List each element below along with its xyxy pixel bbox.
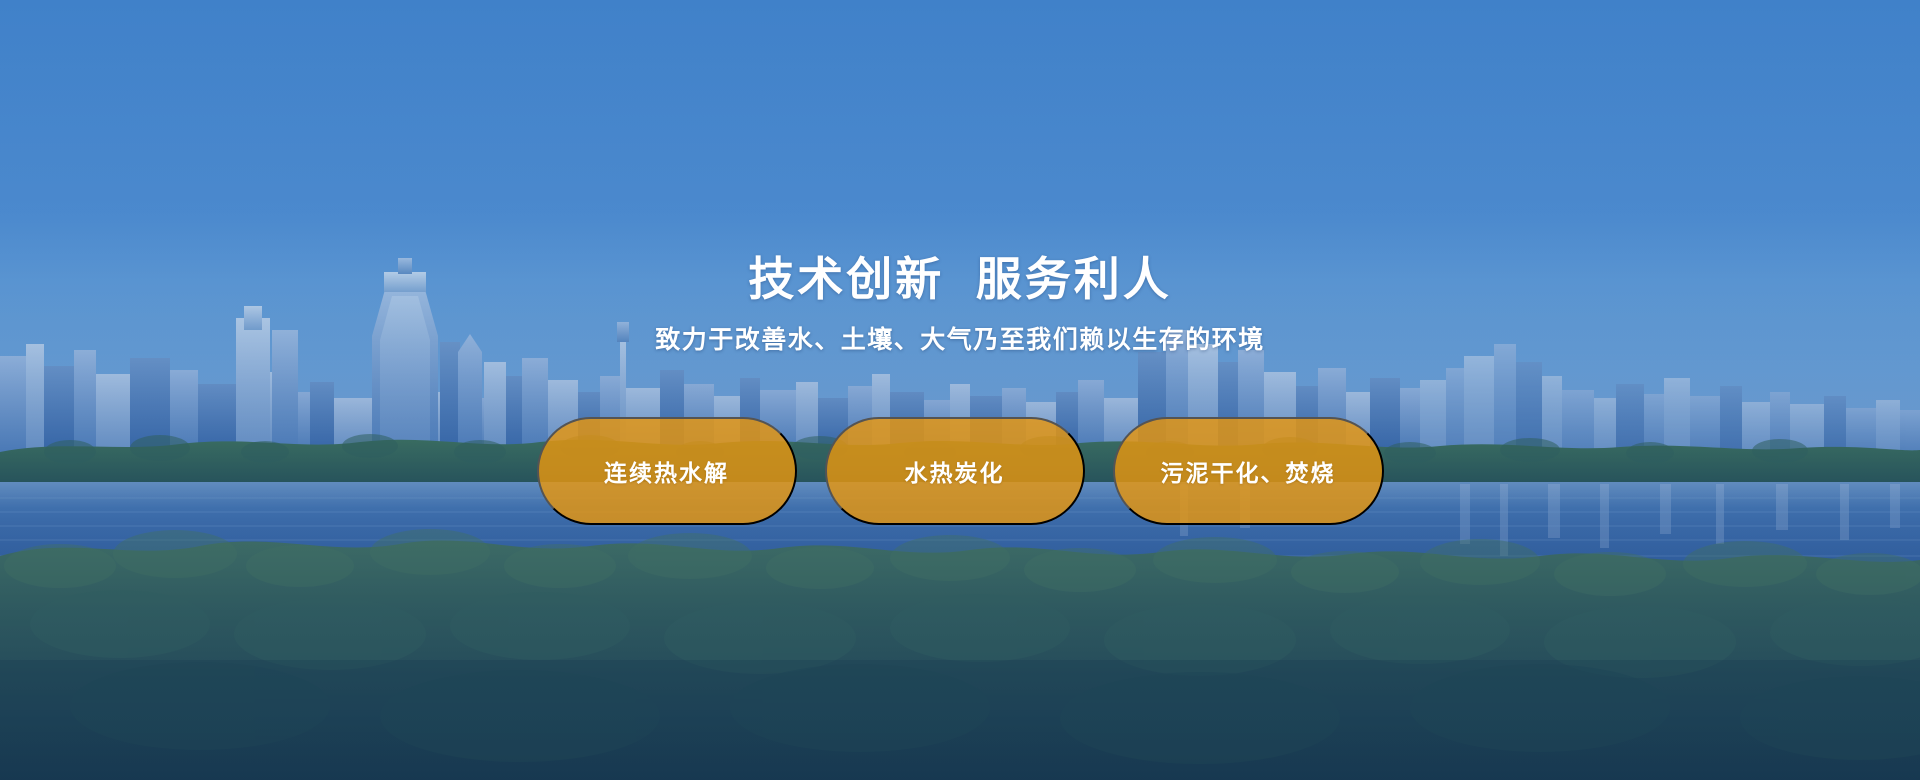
hero-button-continuous-thermal-hydrolysis[interactable]: 连续热水解	[537, 417, 797, 525]
hero-button-sludge-drying-incineration[interactable]: 污泥干化、焚烧	[1113, 417, 1384, 525]
hero-content: 技术创新 服务利人 致力于改善水、土壤、大气乃至我们赖以生存的环境 连续热水解 …	[0, 0, 1920, 780]
hero-button-row: 连续热水解 水热炭化 污泥干化、焚烧	[537, 417, 1384, 525]
hero-button-hydrothermal-carbonization[interactable]: 水热炭化	[825, 417, 1085, 525]
hero-banner: 技术创新 服务利人 致力于改善水、土壤、大气乃至我们赖以生存的环境 连续热水解 …	[0, 0, 1920, 780]
hero-subheadline: 致力于改善水、土壤、大气乃至我们赖以生存的环境	[655, 328, 1265, 353]
hero-headline: 技术创新 服务利人	[748, 256, 1172, 302]
